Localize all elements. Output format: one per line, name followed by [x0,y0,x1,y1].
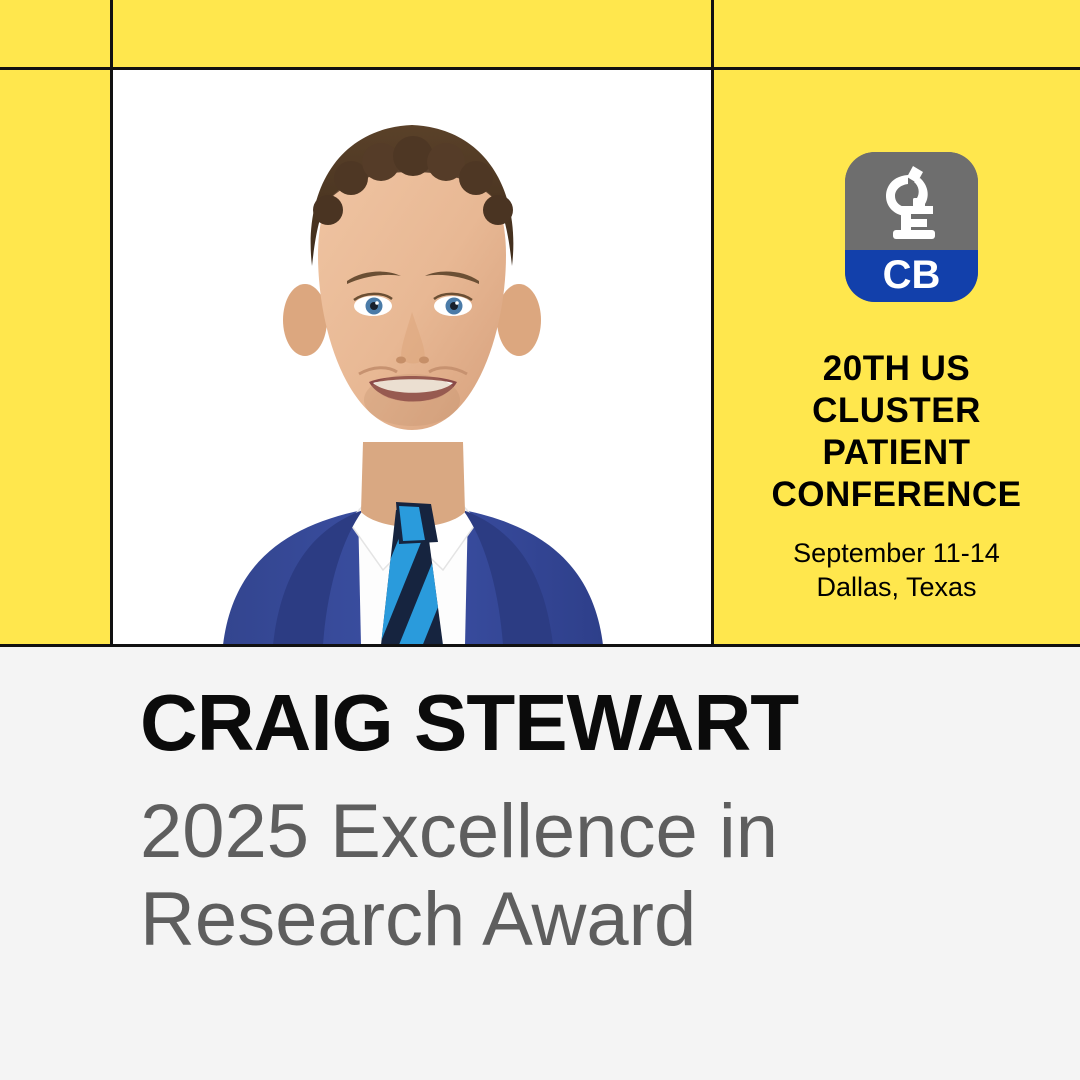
conference-title-line-1: 20TH US [713,348,1080,390]
conference-title-line-3: PATIENT [713,432,1080,474]
left-yellow-column [0,0,110,645]
award-announcement-poster: CB 20TH US CLUSTER PATIENT CONFERENCE Se… [0,0,1080,1080]
grid-rule-horizontal-top [0,67,1080,70]
award-title-line-2: Research Award [140,876,1020,964]
conference-title-line-4: CONFERENCE [713,474,1080,516]
conference-title-line-2: CLUSTER [713,390,1080,432]
conference-location: Dallas, Texas [713,570,1080,604]
microscope-icon [873,162,951,242]
honoree-name: CRAIG STEWART [140,680,1020,766]
conference-dates: September 11-14 [713,536,1080,570]
award-title: 2025 Excellence in Research Award [140,788,1020,964]
cb-conference-logo: CB [845,152,978,302]
conference-text-block: 20TH US CLUSTER PATIENT CONFERENCE Septe… [713,348,1080,604]
award-title-line-1: 2025 Excellence in [140,788,1020,876]
caption-inner: CRAIG STEWART 2025 Excellence in Researc… [140,680,1020,964]
logo-initials: CB [845,250,978,302]
headshot-photo [113,70,711,645]
top-yellow-band [0,0,1080,68]
caption-area: CRAIG STEWART 2025 Excellence in Researc… [0,647,1080,1080]
conference-details: September 11-14 Dallas, Texas [713,536,1080,604]
